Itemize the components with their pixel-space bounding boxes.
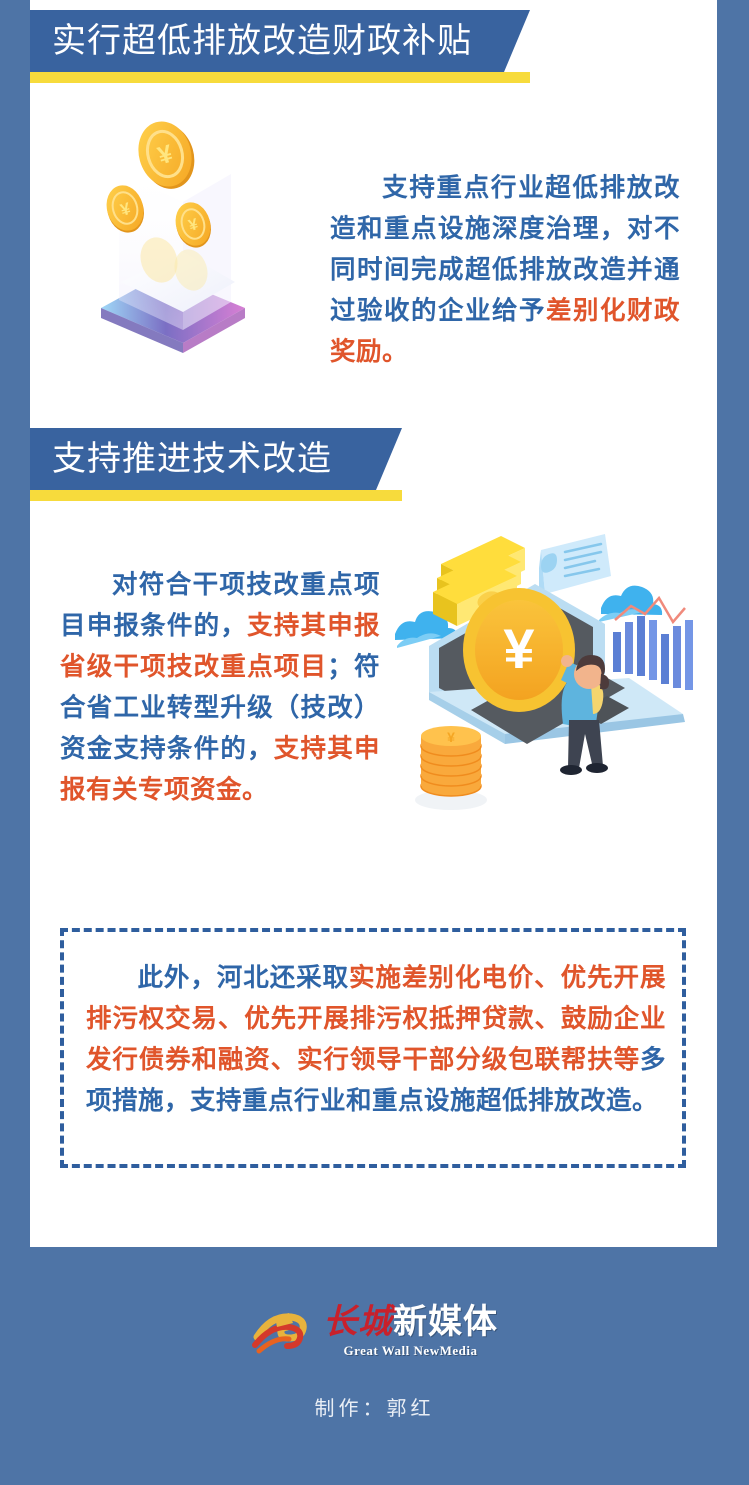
brand-name-en: Great Wall NewMedia <box>344 1343 478 1359</box>
brand-wordmark: 长城新媒体 Great Wall NewMedia <box>323 1305 498 1359</box>
paragraph-callout: 此外，河北还采取实施差别化电价、优先开展排污权交易、优先开展排污权抵押贷款、鼓励… <box>86 958 666 1122</box>
great-wall-swirl-icon <box>251 1307 309 1357</box>
brand-name-cn: 长城新媒体 <box>323 1305 498 1340</box>
paragraph-technical-upgrade: 对符合干项技改重点项目申报条件的，支持其申报省级干项技改重点项目；符合省工业转型… <box>60 565 380 811</box>
svg-text:¥: ¥ <box>447 729 455 745</box>
banner-underline <box>30 72 530 83</box>
footer: 长城新媒体 Great Wall NewMedia 制作：郭红 <box>0 1247 749 1485</box>
laptop-yuan-coin-person-icon: ¥ ¥ <box>393 528 703 818</box>
callout-run: 此外，河北还采取 <box>137 964 349 992</box>
banner-underline <box>30 490 402 501</box>
banner-title-technical-upgrade: 支持推进技术改造 <box>52 442 332 476</box>
banner-title-subsidy: 实行超低排放改造财政补贴 <box>52 24 472 58</box>
chat-bubble <box>539 534 611 600</box>
paragraph-subsidy: 支持重点行业超低排放改造和重点设施深度治理，对不同时间完成超低排放改造并通过验收… <box>330 168 680 373</box>
brand-name-cn-prefix: 长城 <box>323 1306 393 1340</box>
infographic-page: 实行超低排放改造财政补贴 <box>0 0 749 1485</box>
brand-name-cn-suffix: 新媒体 <box>393 1305 498 1339</box>
coins-falling-into-box-icon: ¥ ¥ ¥ <box>85 112 265 362</box>
brand-logo: 长城新媒体 Great Wall NewMedia <box>0 1305 749 1359</box>
banner-shape: 实行超低排放改造财政补贴 <box>30 10 530 72</box>
section-banner-subsidy: 实行超低排放改造财政补贴 <box>30 10 530 83</box>
credit-line: 制作：郭红 <box>0 1392 749 1421</box>
paragraph-run-highlight-end: 。 <box>382 338 408 366</box>
callout-box: 此外，河北还采取实施差别化电价、优先开展排污权交易、优先开展排污权抵押贷款、鼓励… <box>60 928 686 1168</box>
section-banner-technical-upgrade: 支持推进技术改造 <box>30 428 402 501</box>
svg-text:¥: ¥ <box>503 617 534 680</box>
coin-stack: ¥ <box>415 726 487 810</box>
banner-shape: 支持推进技术改造 <box>30 428 402 490</box>
